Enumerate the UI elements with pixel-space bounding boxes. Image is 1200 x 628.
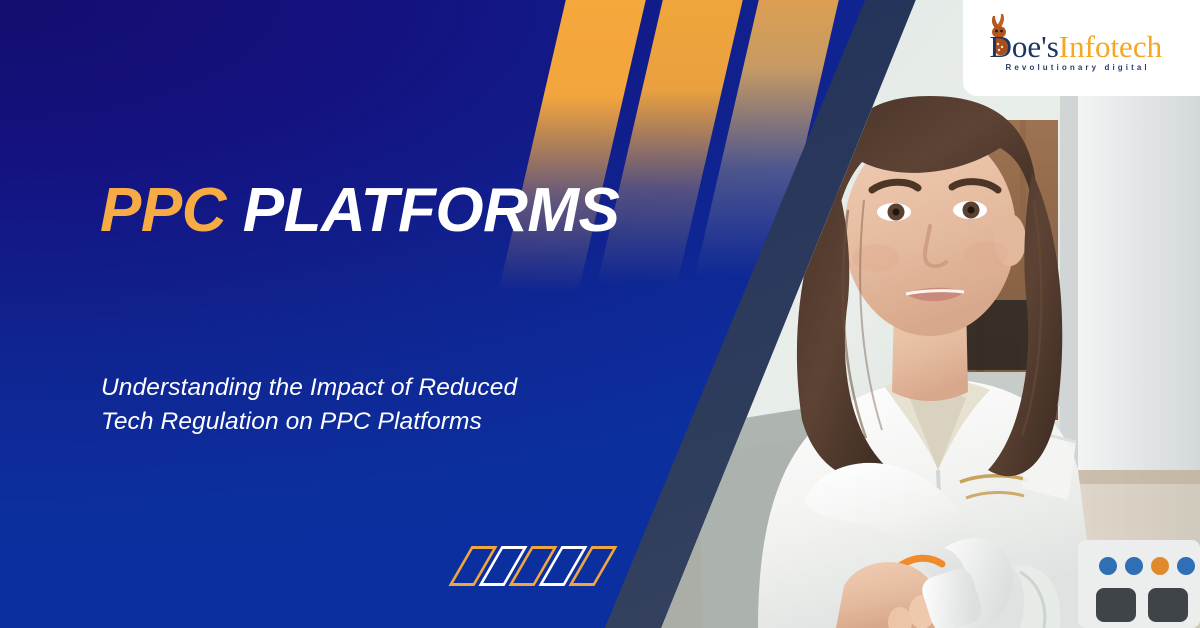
title-plain: PLATFORMS — [243, 176, 620, 245]
slash-ornament — [452, 546, 612, 588]
logo-wordmark: Doe'sInfotech — [990, 31, 1163, 62]
logo-name-orange: Infotech — [1059, 29, 1162, 64]
page-subtitle: Understanding the Impact of Reduced Tech… — [101, 371, 531, 439]
promo-banner: PPC PLATFORMS Understanding the Impact o… — [0, 0, 1200, 628]
page-title: PPC PLATFORMS — [100, 178, 619, 243]
diagonal-stripe — [492, 0, 655, 320]
logo-badge[interactable]: Doe'sInfotech Revolutionary digital — [963, 0, 1200, 96]
logo-name-dark: Doe's — [990, 29, 1059, 64]
diagonal-stripe — [589, 0, 752, 320]
title-accent: PPC — [100, 176, 243, 245]
logo: Doe'sInfotech Revolutionary digital — [982, 17, 1182, 79]
logo-tagline: Revolutionary digital — [1006, 63, 1150, 72]
